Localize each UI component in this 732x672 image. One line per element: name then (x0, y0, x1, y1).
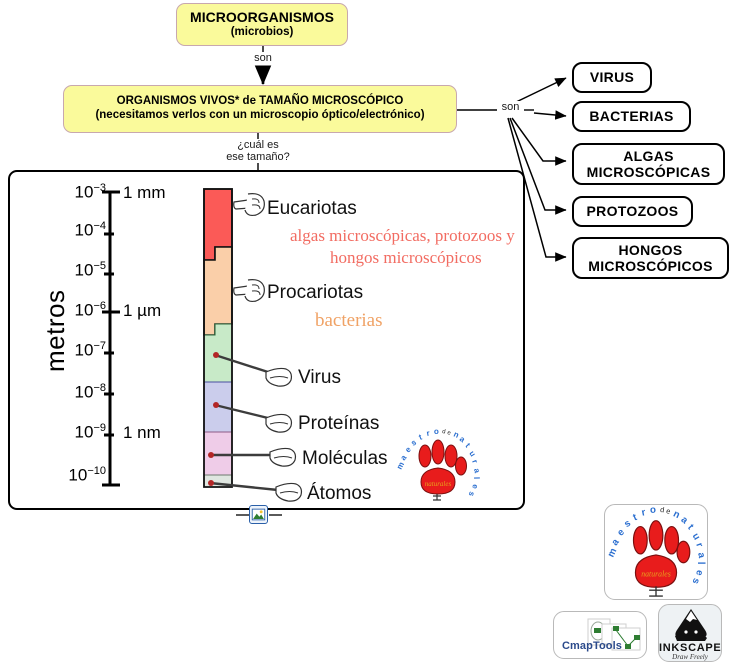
inkscape-mountain-icon (667, 608, 715, 642)
svg-text:s: s (689, 576, 701, 585)
pointing-hand-icon-atomos (272, 477, 306, 505)
svg-text:a: a (458, 434, 467, 444)
svg-text:naturales: naturales (425, 480, 452, 488)
link-label-cual-es-line2: ese tamaño? (226, 151, 290, 163)
node-virus-label: VIRUS (590, 69, 634, 85)
scale-diagram-panel: metros 10−3 10−4 10−5 10−6 10−7 10−8 10−… (8, 170, 525, 510)
svg-text:l: l (695, 562, 706, 565)
svg-text:e: e (665, 506, 671, 516)
node-bacterias-label: BACTERIAS (589, 108, 673, 124)
node-virus[interactable]: VIRUS (572, 62, 652, 93)
node-algas-line2: MICROSCÓPICAS (587, 164, 711, 180)
paw-logo-box[interactable]: naturales m a e s t r o d e n a t u r a … (604, 504, 708, 600)
node-bacterias[interactable]: BACTERIAS (572, 101, 691, 132)
svg-text:o: o (650, 505, 657, 516)
node-organismos-vivos-line2: (necesitamos verlos con un microscopio ó… (95, 109, 424, 123)
svg-text:s: s (622, 518, 633, 531)
node-hongos-microscopicos[interactable]: HONGOS MICROSCÓPICOS (572, 237, 729, 279)
node-hongos-line2: MICROSCÓPICOS (588, 258, 712, 274)
node-organismos-vivos-line1: ORGANISMOS VIVOS* de TAMAÑO MICROSCÓPICO (117, 95, 404, 109)
pointing-hand-icon-moleculas (266, 442, 300, 470)
node-hongos-line1: HONGOS (618, 242, 682, 258)
band-label-procariotas: Procariotas (267, 282, 363, 304)
svg-text:l: l (472, 477, 481, 480)
svg-text:o: o (434, 427, 439, 436)
node-microorganismos-line1: MICROORGANISMOS (190, 9, 334, 26)
svg-text:t: t (418, 432, 424, 441)
inkscape-logo-box[interactable]: INKSCAPE Draw Freely (658, 604, 722, 662)
svg-text:d: d (442, 429, 446, 435)
svg-text:e: e (615, 526, 627, 538)
svg-text:r: r (693, 541, 705, 549)
svg-text:t: t (685, 522, 696, 532)
pointing-hand-icon-proteinas (262, 408, 296, 436)
band-subtitle-procariotas: bacterias (315, 310, 383, 332)
resource-badge-connector (236, 512, 282, 518)
pointing-hand-icon-virus (262, 362, 296, 390)
node-algas-line1: ALGAS (623, 148, 674, 164)
svg-text:e: e (693, 569, 705, 577)
cmaptools-label: CmapTools (562, 640, 622, 652)
node-algas-microscopicas[interactable]: ALGAS MICROSCÓPICAS (572, 143, 725, 185)
svg-text:r: r (641, 507, 647, 519)
svg-text:u: u (467, 449, 477, 458)
svg-text:a: a (679, 514, 691, 526)
link-label-cual-es: ¿cuál es ese tamaño? (208, 139, 308, 163)
svg-text:r: r (470, 458, 480, 464)
pointing-hand-icon-procariotas (232, 276, 268, 306)
pointing-hand-icon-eucariotas (232, 190, 268, 220)
link-label-son-top: son (248, 52, 278, 64)
band-subtitle-eucariotas-line2: hongos microscópicos (330, 248, 482, 268)
band-label-atomos: Átomos (307, 483, 371, 505)
band-subtitle-eucariotas-line1: algas microscópicas, protozoos y (290, 226, 515, 246)
svg-text:e: e (446, 430, 451, 437)
svg-text:e: e (470, 484, 480, 490)
svg-text:d: d (660, 505, 665, 514)
svg-text:u: u (690, 531, 703, 542)
node-microorganismos[interactable]: MICROORGANISMOS (microbios) (176, 3, 348, 46)
svg-text:n: n (671, 509, 681, 522)
svg-text:a: a (399, 453, 409, 463)
svg-text:s: s (410, 437, 419, 447)
band-label-virus: Virus (298, 367, 341, 389)
svg-text:a: a (695, 552, 707, 560)
node-organismos-vivos[interactable]: ORGANISMOS VIVOS* de TAMAÑO MICROSCÓPICO… (63, 85, 457, 133)
band-label-proteinas: Proteínas (298, 413, 379, 435)
paw-logo-icon: naturales m a e s t r o d e n a t u r a … (605, 505, 707, 599)
inkscape-sublabel: Draw Freely (659, 653, 721, 661)
paw-logo-watermark: naturales m a e s t r o d e n a t u r a … (395, 428, 481, 500)
svg-text:naturales: naturales (641, 569, 671, 578)
svg-text:t: t (464, 441, 473, 449)
band-label-moleculas: Moléculas (302, 448, 388, 470)
link-label-son-right: son (497, 101, 524, 113)
svg-text:s: s (467, 490, 477, 498)
svg-text:e: e (404, 444, 414, 454)
band-label-eucariotas: Eucariotas (267, 198, 357, 220)
node-protozoos[interactable]: PROTOZOOS (572, 196, 693, 227)
node-microorganismos-line2: (microbios) (231, 26, 294, 40)
svg-text:a: a (472, 468, 482, 475)
svg-text:t: t (631, 512, 639, 524)
link-label-cual-es-line1: ¿cuál es (237, 139, 279, 151)
svg-text:a: a (610, 536, 622, 548)
svg-text:r: r (426, 429, 431, 438)
node-protozoos-label: PROTOZOOS (587, 203, 679, 219)
cmaptools-logo-box[interactable]: CmapTools (553, 611, 647, 659)
